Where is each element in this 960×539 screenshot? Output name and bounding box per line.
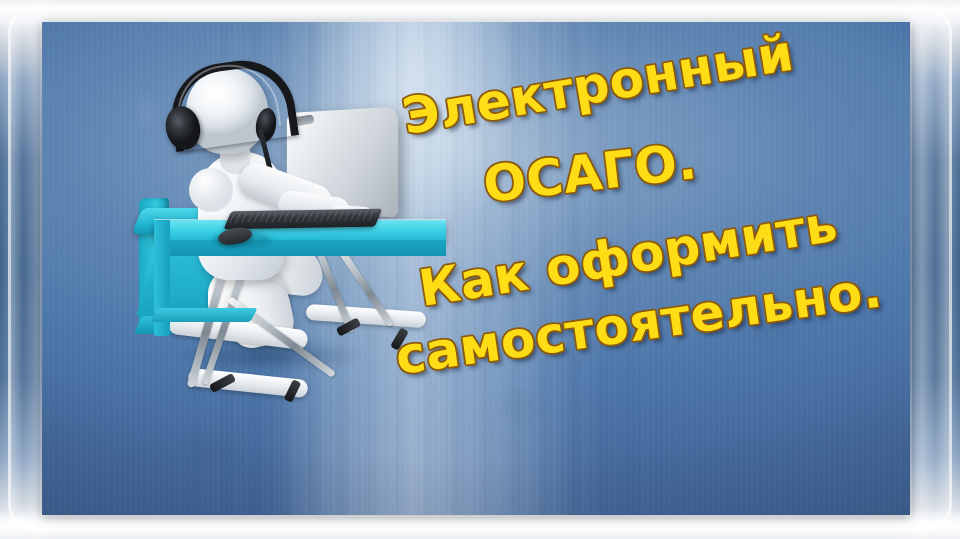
panel-vignette <box>42 22 910 515</box>
inner-blue-panel: Электронный ОСАГО. Как оформить самостоя… <box>42 22 910 515</box>
poster-image: Электронный ОСАГО. Как оформить самостоя… <box>0 0 960 539</box>
